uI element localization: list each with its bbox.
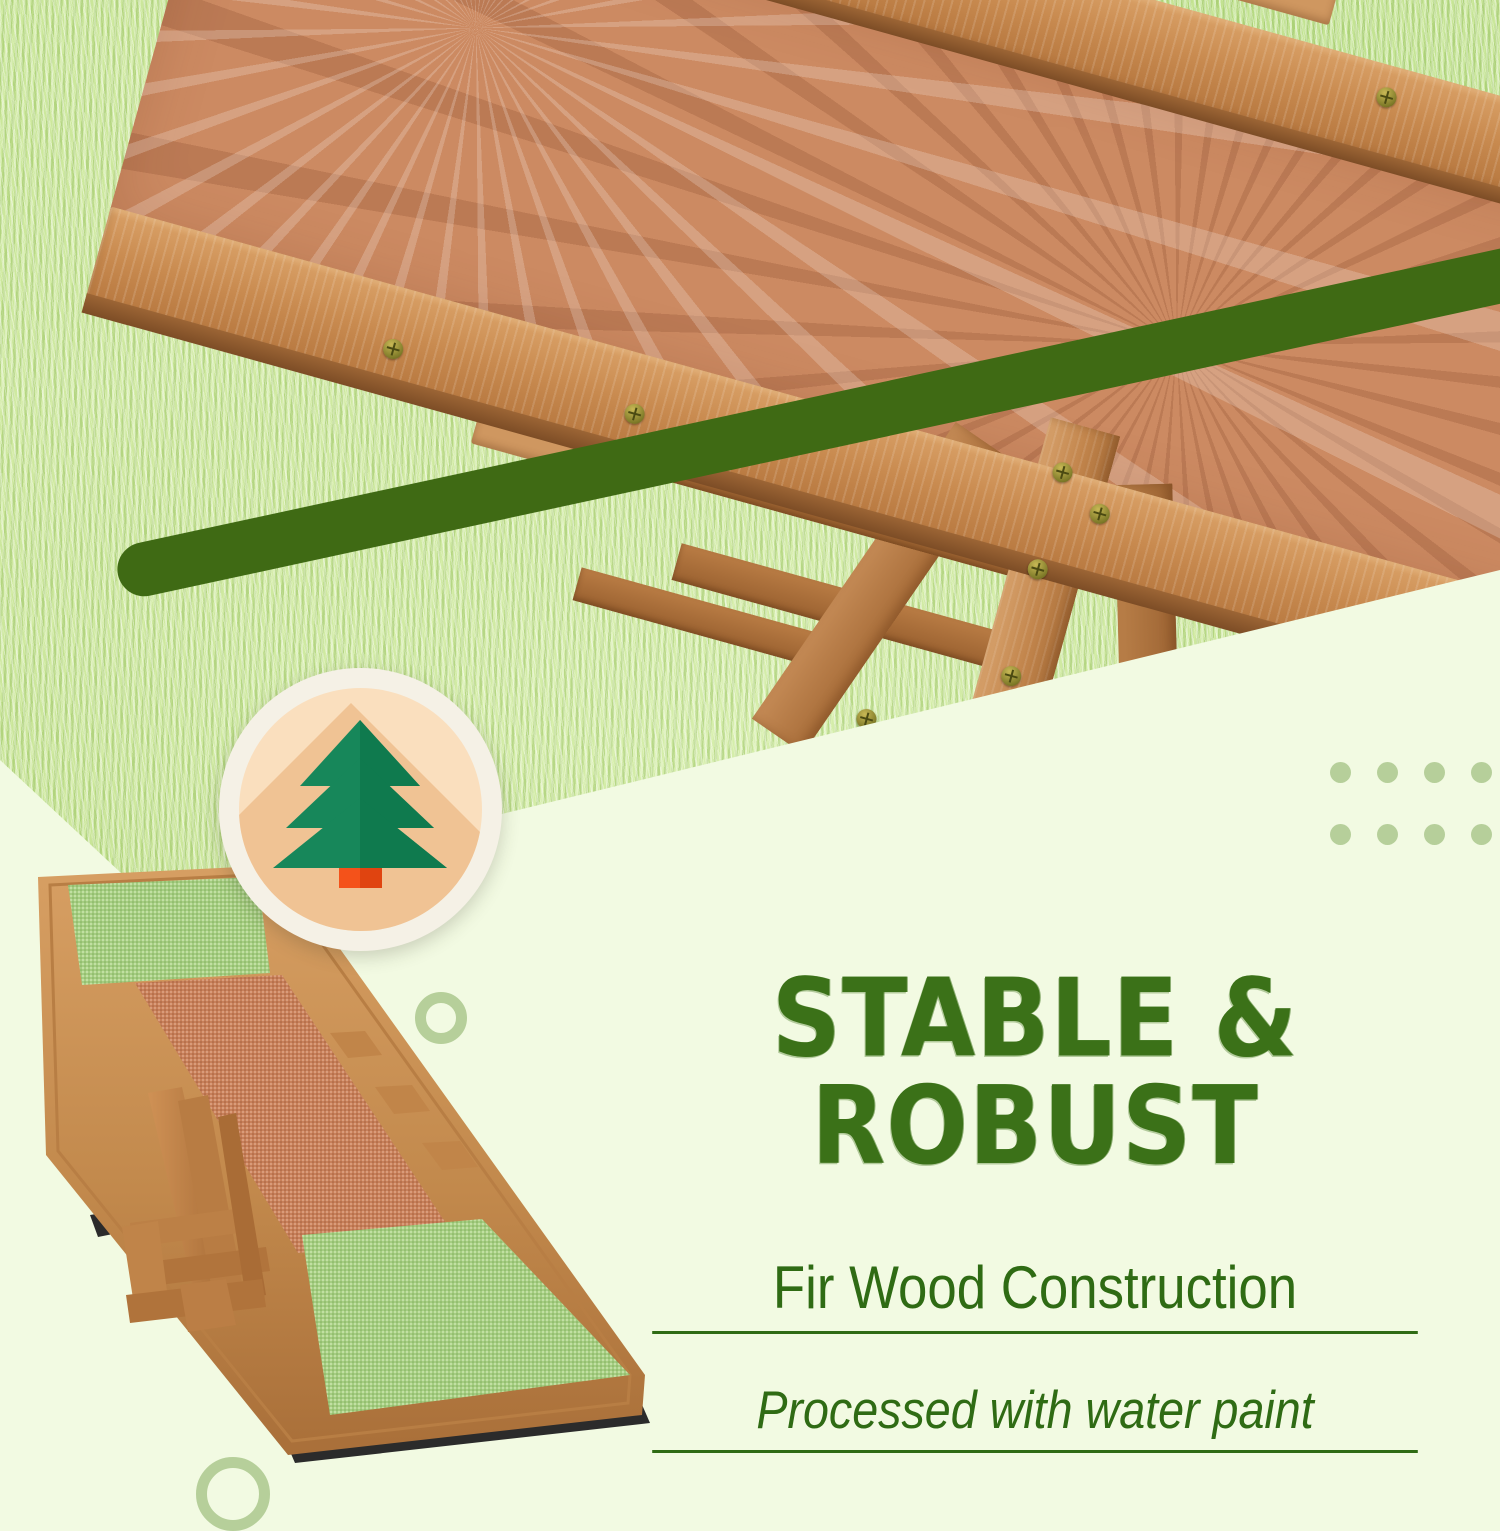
rail-notch-right — [1223, 0, 1340, 25]
feature-line-construction: Fir Wood Construction — [652, 1253, 1418, 1334]
decorative-dot — [1330, 824, 1351, 845]
badge-disc — [239, 688, 482, 931]
decorative-dot — [1377, 762, 1398, 783]
decorative-dot — [1424, 824, 1445, 845]
decorative-dot — [1377, 824, 1398, 845]
fir-tree-icon — [239, 688, 482, 931]
fir-tree-badge — [219, 668, 502, 951]
feature-line-finish: Processed with water paint — [652, 1380, 1418, 1453]
decorative-dot-grid-right — [1330, 762, 1500, 886]
decorative-dot — [1424, 762, 1445, 783]
marketing-copy-block: STABLE & ROBUST Fir Wood Construction Pr… — [600, 965, 1470, 1453]
decorative-dot — [1330, 762, 1351, 783]
poster-canvas: STABLE & ROBUST Fir Wood Construction Pr… — [0, 0, 1500, 1500]
decorative-dot — [1471, 824, 1492, 845]
page-title: STABLE & ROBUST — [600, 965, 1470, 1180]
screw-icon — [854, 707, 879, 732]
decorative-dot — [1471, 762, 1492, 783]
